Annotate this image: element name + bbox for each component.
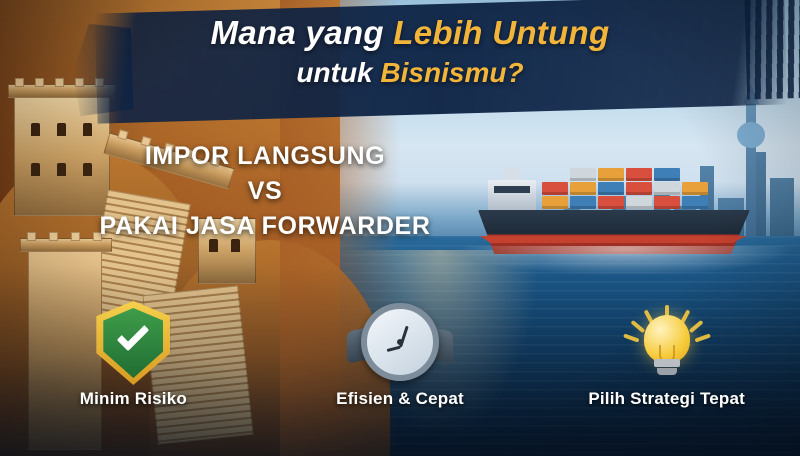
comparison-versus: VS — [40, 177, 490, 206]
feature-item-speed: Efisien & Cepat — [267, 299, 534, 434]
ship-bridge — [488, 180, 536, 214]
shield-check-icon — [0, 299, 267, 387]
comparison-option-b: PAKAI JASA FORWARDER — [40, 212, 490, 241]
lightbulb-idea-icon — [533, 299, 800, 387]
feature-item-risk: Minim Risiko — [0, 299, 267, 434]
feature-label-strategy: Pilih Strategi Tepat — [533, 389, 800, 409]
poster-image: Mana yang Lebih Untung untuk Bisnismu? I… — [0, 0, 800, 456]
ship-waterline — [480, 236, 746, 243]
feature-item-strategy: Pilih Strategi Tepat — [533, 299, 800, 434]
feature-label-risk: Minim Risiko — [0, 389, 267, 409]
comparison-block: IMPOR LANGSUNG VS PAKAI JASA FORWARDER — [40, 142, 490, 241]
ship-wake — [455, 246, 795, 276]
feature-row: Minim Risiko Efisien & Cepat — [0, 299, 800, 434]
headline-brush-banner — [95, 0, 788, 124]
comparison-option-a: IMPOR LANGSUNG — [40, 142, 490, 171]
feature-label-speed: Efisien & Cepat — [267, 389, 534, 409]
clock-speed-icon — [267, 299, 534, 387]
